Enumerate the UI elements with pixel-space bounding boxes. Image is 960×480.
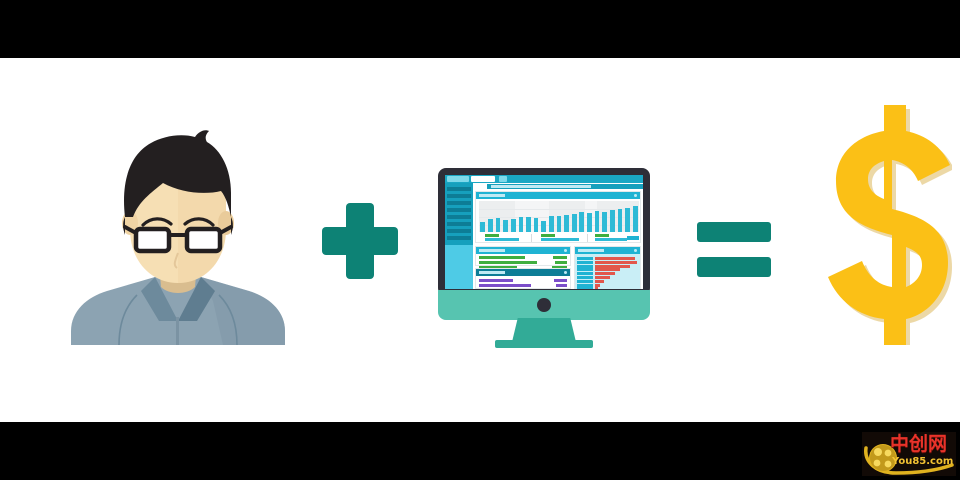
monitor-stand-foot [495,340,593,348]
rank-row-bar [595,280,604,283]
rank-row-bar [595,284,600,287]
watermark-brand-cn: 中创网 [890,435,947,454]
chart-bar [480,222,485,232]
rank-panel-menu-icon[interactable] [634,249,637,252]
list-row-value [556,284,567,287]
rank-row-label [577,268,593,271]
rank-row-bar [595,261,637,264]
dollar-sign [806,105,952,345]
chart-bar [526,217,531,232]
legend-more-button[interactable] [627,236,639,240]
list-row-label [479,261,537,264]
chart-bar [557,216,562,232]
rank-panel-title [578,249,604,252]
rank-row-label [577,272,593,275]
chart-bar [511,219,516,232]
chart-bar [602,212,607,232]
rank-row-bar [595,287,598,289]
chart-panel [475,191,641,243]
browser-tab-active[interactable] [471,176,495,182]
legend-swatch [541,234,555,237]
sidebar-item-5[interactable] [447,215,471,219]
monitor-logo-dot [537,298,551,312]
list-row-label [479,256,525,259]
chart-bar [610,210,615,232]
legend-swatch [595,234,609,237]
sidebar-promo-block [445,245,473,289]
site-watermark: 中创网 You85.com [862,432,956,476]
rank-row-bar [595,268,620,271]
list-panel-b [475,268,571,289]
legend-label [541,238,579,241]
rank-row-label [577,284,593,287]
dashboard-main [475,191,641,289]
chart-gridline [479,209,639,210]
browser-url-text [491,185,591,188]
sidebar-item-2[interactable] [447,194,471,198]
rank-row-label [577,280,593,283]
desktop-monitor [438,168,650,348]
rank-row-bar [595,257,635,260]
list-panel-b-menu-icon[interactable] [564,271,567,274]
legend-label [595,238,627,241]
chart-bar [572,214,577,232]
rank-row-label [577,265,593,268]
businessman-avatar [63,125,293,345]
browser-tab[interactable] [447,176,469,182]
chart-bar [488,219,493,232]
plus-vertical-bar [346,203,374,279]
chart-bar [564,215,569,232]
list-panel-a-title [479,249,505,252]
chart-bar [549,216,554,232]
list-row-value [554,279,567,282]
sidebar-item-6[interactable] [447,222,471,226]
chart-bar [541,221,546,232]
rank-row-label [577,261,593,264]
bar-chart-legend [479,234,639,242]
chart-bar [625,208,630,232]
rank-row-bar [595,276,610,279]
chart-bar [587,213,592,232]
chart-panel-title [479,194,505,197]
chart-bar [496,218,501,232]
list-panel-a [475,246,571,266]
legend-label [485,238,519,241]
list-row-value [553,256,567,259]
chart-bar [633,206,638,232]
monitor-bezel [438,168,650,296]
watermark-brand-url: You85.com [892,456,953,467]
monitor-stand-neck [512,318,576,342]
list-row-label [479,279,513,282]
chart-bar [519,217,524,232]
chart-bar [503,220,508,232]
dashboard-sidebar[interactable] [445,183,473,289]
chart-bar [534,218,539,232]
bar-chart-plot [479,201,639,232]
rank-row-label [577,257,593,260]
equals-bottom-bar [697,257,771,277]
rank-row-bar [595,265,630,268]
list-row-label [479,284,531,287]
sidebar-item-8[interactable] [447,236,471,240]
list-panel-b-header [476,269,570,276]
rank-panel-header [575,247,640,254]
sidebar-item-7[interactable] [447,229,471,233]
chart-bar [618,209,623,232]
plus-sign [322,203,398,279]
illustration-stage: 中创网 You85.com [0,0,960,480]
browser-new-tab-button[interactable] [499,176,507,182]
legend-separator [587,234,588,242]
rank-row-label [577,276,593,279]
equals-sign [697,222,771,277]
list-panel-a-header [476,247,570,254]
chart-panel-header [476,192,640,199]
chart-bar [595,211,600,232]
legend-swatch [485,234,499,237]
rank-panel [574,246,641,289]
list-panel-a-menu-icon[interactable] [564,249,567,252]
chart-bar [579,212,584,232]
sidebar-item-1[interactable] [447,187,471,191]
chart-panel-menu-icon[interactable] [634,194,637,197]
list-panel-b-title [479,271,505,274]
sidebar-item-3[interactable] [447,201,471,205]
rank-row-label [577,287,593,289]
list-row-value [555,261,567,264]
equals-top-bar [697,222,771,242]
rank-row-bar [595,272,615,275]
legend-separator [531,234,532,242]
monitor-screen [445,175,643,289]
sidebar-item-4[interactable] [447,208,471,212]
